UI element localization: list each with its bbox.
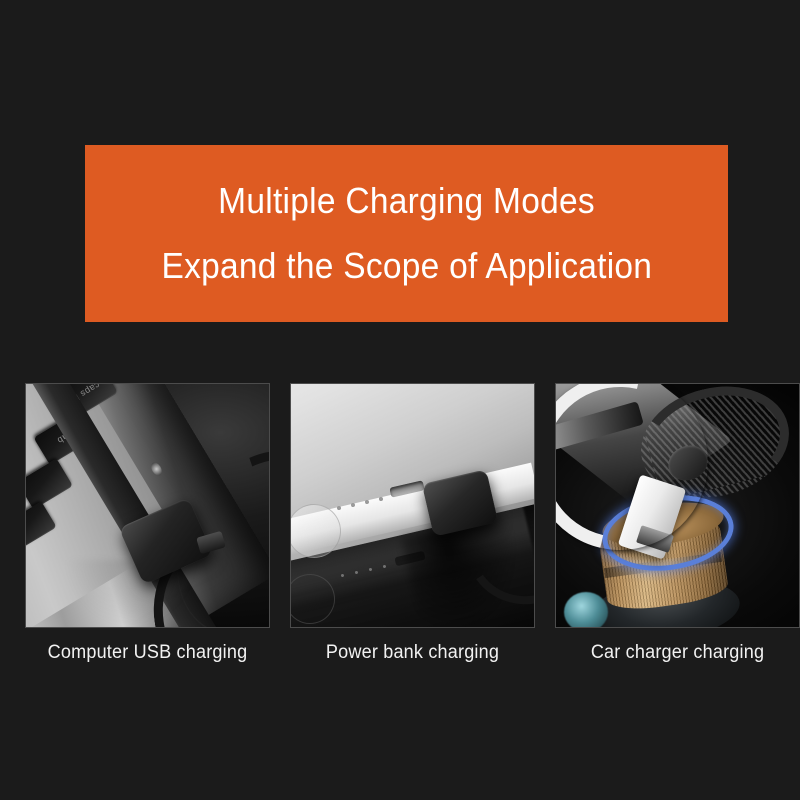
caption-power-bank: Power bank charging bbox=[296, 642, 529, 664]
teal-highlight bbox=[564, 592, 608, 627]
panel-car-charger bbox=[555, 383, 800, 628]
caption-row: Computer USB charging Power bank chargin… bbox=[0, 642, 800, 682]
headline-line-2: Expand the Scope of Application bbox=[161, 247, 652, 285]
promo-graphic: Multiple Charging Modes Expand the Scope… bbox=[0, 0, 800, 800]
photo-car-charger bbox=[556, 384, 799, 627]
caption-car-charger: Car charger charging bbox=[561, 642, 794, 664]
photo-power-bank bbox=[291, 384, 534, 627]
panel-row: caps lock tab bbox=[0, 383, 800, 628]
panel-power-bank bbox=[290, 383, 535, 628]
headline-line-1: Multiple Charging Modes bbox=[218, 182, 595, 220]
photo-computer-usb: caps lock tab bbox=[26, 384, 269, 627]
caption-computer-usb: Computer USB charging bbox=[31, 642, 264, 664]
headline-banner: Multiple Charging Modes Expand the Scope… bbox=[85, 145, 728, 322]
panel-computer-usb: caps lock tab bbox=[25, 383, 270, 628]
